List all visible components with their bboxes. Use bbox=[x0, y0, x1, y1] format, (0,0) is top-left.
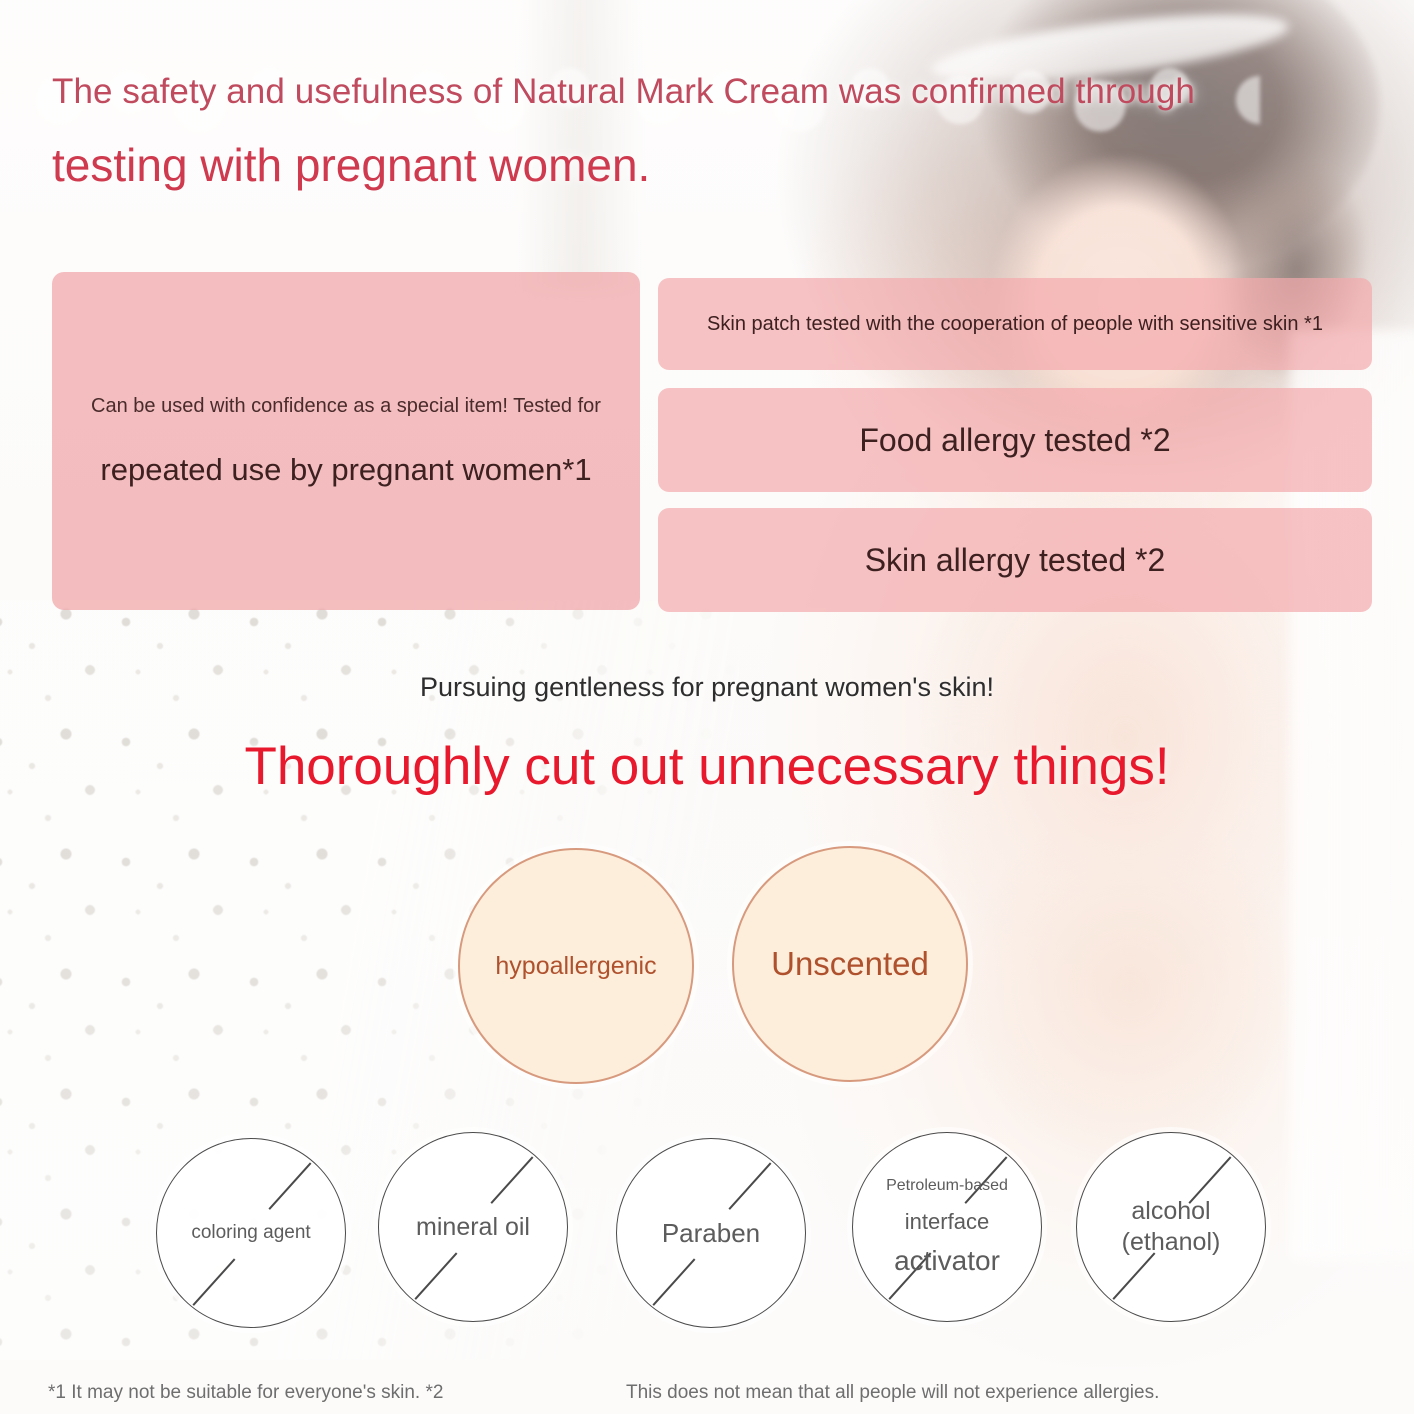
claim-bar-skin-patch: Skin patch tested with the cooperation o… bbox=[658, 278, 1372, 370]
excluded-circle-mineral-oil: mineral oil bbox=[378, 1132, 568, 1322]
claim-bar-food-allergy-label: Food allergy tested *2 bbox=[859, 422, 1170, 459]
pregnant-use-claim-small: Can be used with confidence as a special… bbox=[91, 395, 601, 418]
excluded-label-line-2: interface bbox=[886, 1209, 1008, 1235]
headline-block: The safety and usefulness of Natural Mar… bbox=[52, 72, 1302, 191]
headline-line-2: testing with pregnant women. bbox=[52, 140, 1302, 191]
headline-line-1: The safety and usefulness of Natural Mar… bbox=[52, 72, 1302, 112]
strikethrough-line-lower-icon bbox=[414, 1252, 457, 1299]
strikethrough-line-upper-icon bbox=[490, 1156, 533, 1203]
excluded-label-line-3: activator bbox=[886, 1245, 1008, 1277]
feature-circle-unscented: Unscented bbox=[732, 846, 968, 1082]
excluded-circle-paraben-text: Paraben bbox=[652, 1218, 770, 1249]
excluded-circle-surfactant: Petroleum-based interface activator bbox=[852, 1132, 1042, 1322]
strikethrough-line-lower-icon bbox=[1112, 1252, 1155, 1299]
midsection-subheading: Pursuing gentleness for pregnant women's… bbox=[0, 672, 1414, 703]
strikethrough-line-upper-icon bbox=[268, 1162, 311, 1209]
pregnant-use-claim-box: Can be used with confidence as a special… bbox=[52, 272, 640, 610]
excluded-circle-coloring-agent-text: coloring agent bbox=[181, 1222, 320, 1244]
claim-bar-skin-patch-label: Skin patch tested with the cooperation o… bbox=[707, 313, 1323, 336]
excluded-circle-coloring-agent: coloring agent bbox=[156, 1138, 346, 1328]
pregnant-use-claim-big: repeated use by pregnant women*1 bbox=[100, 452, 591, 488]
footnote-left: *1 It may not be suitable for everyone's… bbox=[48, 1382, 443, 1404]
feature-circle-unscented-label: Unscented bbox=[771, 945, 929, 983]
claim-bar-skin-allergy-label: Skin allergy tested *2 bbox=[865, 542, 1166, 579]
claim-bar-food-allergy: Food allergy tested *2 bbox=[658, 388, 1372, 492]
excluded-circle-mineral-oil-text: mineral oil bbox=[406, 1213, 540, 1242]
excluded-label-line-1: coloring agent bbox=[191, 1222, 310, 1244]
claim-bar-skin-allergy: Skin allergy tested *2 bbox=[658, 508, 1372, 612]
feature-circle-hypoallergenic: hypoallergenic bbox=[458, 848, 694, 1084]
strikethrough-line-upper-icon bbox=[728, 1162, 771, 1209]
excluded-circle-alcohol-text: alcohol (ethanol) bbox=[1112, 1196, 1231, 1259]
excluded-label-line-1: Paraben bbox=[662, 1218, 760, 1249]
excluded-label-line-1: mineral oil bbox=[416, 1213, 530, 1242]
excluded-label-line-2: (ethanol) bbox=[1122, 1227, 1221, 1258]
strikethrough-line-lower-icon bbox=[652, 1258, 695, 1305]
strikethrough-line-lower-icon bbox=[192, 1258, 235, 1305]
midsection-heading: Thoroughly cut out unnecessary things! bbox=[0, 736, 1414, 797]
excluded-circle-paraben: Paraben bbox=[616, 1138, 806, 1328]
excluded-circle-alcohol: alcohol (ethanol) bbox=[1076, 1132, 1266, 1322]
excluded-circle-surfactant-text: Petroleum-based interface activator bbox=[876, 1177, 1018, 1277]
footnote-right: This does not mean that all people will … bbox=[626, 1382, 1159, 1404]
product-claims-infographic: The safety and usefulness of Natural Mar… bbox=[0, 0, 1414, 1414]
excluded-label-line-1: alcohol bbox=[1122, 1196, 1221, 1227]
feature-circle-hypoallergenic-label: hypoallergenic bbox=[495, 952, 656, 981]
excluded-label-line-1: Petroleum-based bbox=[886, 1177, 1008, 1195]
